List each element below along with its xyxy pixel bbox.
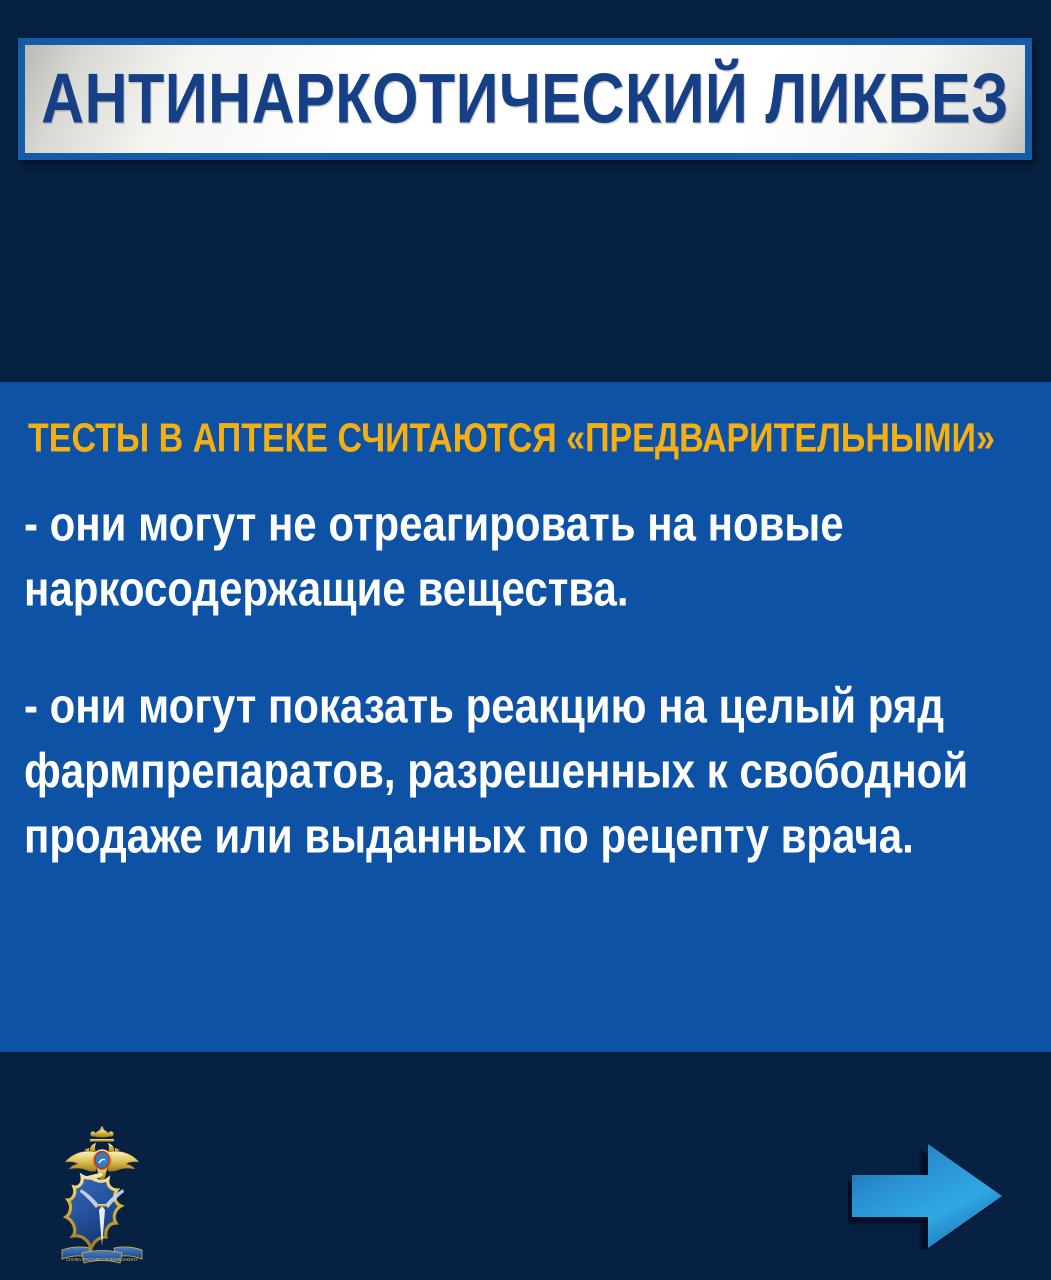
title-banner-inner: АНТИНАРКОТИЧЕСКИЙ ЛИКБЕЗ [25, 45, 1025, 153]
arrow-shape [852, 1144, 1002, 1248]
panel-subheading: ТЕСТЫ В АПТЕКЕ СЧИТАЮТСЯ «ПРЕДВАРИТЕЛЬНЫ… [28, 418, 995, 459]
content-panel: ТЕСТЫ В АПТЕКЕ СЧИТАЮТСЯ «ПРЕДВАРИТЕЛЬНЫ… [0, 382, 1051, 1052]
info-paragraph-1: - они могут не отреагировать на новые на… [24, 492, 1034, 622]
ribbon-text: СЛУЖА РОССИИ СЛУЖИМ ЗАКОНУ [66, 1257, 138, 1262]
mvd-emblem: СЛУЖА РОССИИ СЛУЖИМ ЗАКОНУ [52, 1122, 152, 1270]
next-arrow-icon[interactable] [848, 1142, 1008, 1250]
banner-title-text: АНТИНАРКОТИЧЕСКИЙ ЛИКБЕЗ [41, 64, 1009, 134]
rider-shield-icon [93, 1150, 111, 1170]
main-shield [66, 1174, 121, 1249]
info-paragraph-2: - они могут показать реакцию на целый ря… [24, 674, 1034, 868]
crown-icon [90, 1126, 114, 1142]
title-banner: АНТИНАРКОТИЧЕСКИЙ ЛИКБЕЗ [18, 38, 1032, 160]
ribbon-banner: СЛУЖА РОССИИ СЛУЖИМ ЗАКОНУ [62, 1247, 142, 1263]
